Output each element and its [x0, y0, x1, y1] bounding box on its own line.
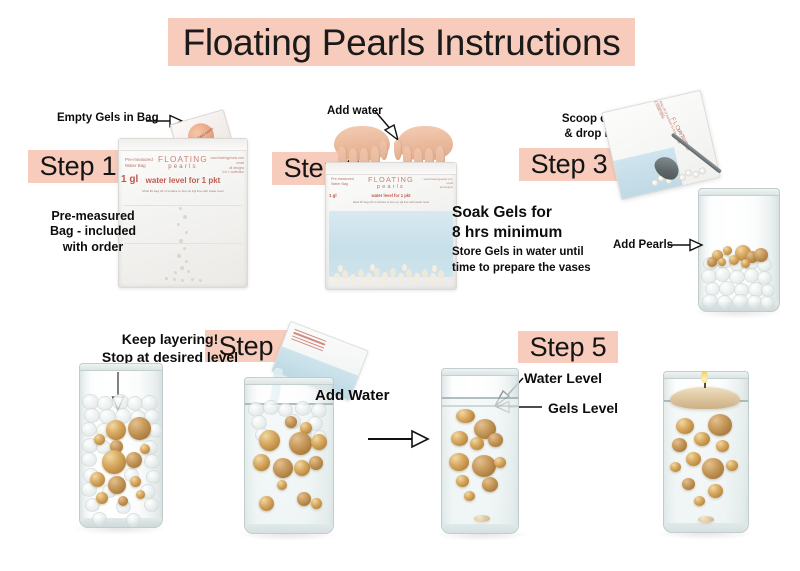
vase-step-5-finished	[441, 368, 519, 534]
gold-pearl	[694, 496, 705, 506]
page-title-banner: Floating Pearls Instructions	[168, 18, 635, 66]
callout-premeasured-line-3: with order	[33, 240, 153, 255]
clear-gel	[84, 408, 100, 423]
clear-gel	[715, 267, 730, 282]
vase-step-4-layered	[79, 363, 163, 528]
gold-pearl	[311, 434, 327, 450]
gold-pearl	[118, 496, 128, 506]
callout-store-gels-subtext: Store Gels in water until time to prepar…	[452, 245, 591, 276]
gold-pearl	[708, 484, 723, 498]
gel-bead	[406, 269, 412, 278]
gold-pearl	[707, 257, 717, 267]
gold-pearl	[670, 462, 681, 472]
clear-gel	[719, 281, 735, 296]
gold-pearl	[698, 516, 714, 523]
callout-water-level: Water Level	[524, 370, 602, 387]
callout-empty-gels-text: Empty Gels in Bag	[57, 112, 159, 124]
gold-pearl	[672, 438, 687, 452]
gold-pearl	[494, 457, 506, 468]
infographic-canvas: Floating Pearls Instructions Step 1 Empt…	[0, 0, 800, 571]
spoon-icon	[648, 122, 748, 192]
gold-pearl	[449, 453, 469, 471]
gold-pearl	[289, 432, 312, 455]
page-title: Floating Pearls Instructions	[183, 24, 621, 61]
callout-gels-level-text: Gels Level	[548, 400, 618, 416]
gold-pearl	[130, 476, 141, 487]
gold-pearl	[128, 417, 151, 440]
callout-add-pearls: Add Pearls	[613, 238, 673, 252]
gold-pearl	[90, 472, 105, 487]
arrow-add-pearls-icon	[668, 238, 704, 252]
gold-pearl	[694, 432, 710, 446]
clear-gel	[146, 470, 161, 484]
gels-line	[442, 405, 518, 407]
step-3-chip: Step 3	[519, 148, 619, 181]
keep-line-1: Keep layering!	[70, 330, 270, 348]
step-1-label: Step 1	[40, 151, 117, 182]
gel-bead	[430, 273, 436, 281]
clear-gel	[144, 454, 160, 469]
bag-label-contact: www.floatingpearls.com email all designs…	[211, 156, 244, 175]
gold-pearl	[716, 440, 729, 452]
gold-pearl	[723, 246, 732, 255]
gel-bead	[173, 278, 176, 281]
callout-keep-layering: Keep layering! Stop at desired level	[70, 330, 270, 366]
gold-pearl	[297, 492, 311, 506]
gold-pearl	[686, 452, 701, 466]
gold-pearl	[277, 480, 287, 490]
bag-zip-top	[326, 163, 456, 175]
water-line	[442, 397, 518, 399]
gold-pearl	[464, 491, 475, 501]
gold-pearl	[136, 490, 145, 499]
vase-rim	[79, 364, 163, 371]
floating-candle	[670, 387, 740, 409]
gel-bead	[370, 264, 375, 271]
gel-bead	[180, 266, 184, 270]
gold-pearl	[294, 460, 310, 476]
callout-soak-gels-heading: Soak Gels for 8 hrs minimum	[452, 203, 562, 244]
arrow-transition-icon	[368, 428, 430, 450]
gold-pearl	[106, 420, 126, 440]
bag-seam	[124, 205, 242, 206]
bag-label-contact: www.floatingpearls.com email all designs	[424, 177, 453, 190]
gold-pearl	[754, 248, 768, 262]
gel-bead	[438, 270, 444, 279]
gold-pearl	[682, 478, 695, 490]
flame-icon	[701, 371, 708, 383]
gold-pearl	[309, 456, 323, 470]
bag-printed-label: Pre-measured Water Bag FLOATING pearls w…	[119, 152, 247, 194]
gold-pearl	[474, 515, 490, 522]
gold-pearl	[259, 430, 280, 451]
gold-pearl	[729, 255, 739, 265]
gel-bead	[398, 273, 404, 281]
gold-pearl	[253, 454, 270, 471]
gel-bead	[199, 279, 202, 282]
callout-premeasured-line-2: Bag - included	[33, 224, 153, 239]
vase-rim	[441, 369, 519, 376]
gold-pearl	[456, 475, 469, 487]
gold-pearl	[488, 433, 503, 447]
bag-zip-top	[119, 139, 247, 151]
gel-bead	[338, 265, 343, 272]
callout-add-water-step-4: Add Water	[315, 387, 389, 405]
gel-bead	[382, 272, 388, 281]
gel-bead	[402, 264, 407, 271]
bag-label-fine-print: Must lift bag off of surface to line up …	[119, 189, 247, 193]
store-line-2: time to prepare the vases	[452, 261, 591, 277]
bag-printed-label: Pre-measured Water Bag FLOATING pearls w…	[326, 175, 456, 205]
gel-bead	[183, 215, 187, 219]
bag-label-fine-print: Must lift bag off of surface to line up …	[326, 200, 456, 204]
clear-gel	[760, 296, 775, 309]
gold-pearl	[726, 460, 738, 471]
gold-pearl	[741, 259, 750, 268]
gold-pearl	[470, 437, 484, 450]
step-5-chip: Step 5	[518, 331, 618, 363]
gel-bead	[174, 271, 177, 274]
gel-bead	[358, 269, 364, 278]
callout-gels-level: Gels Level	[548, 400, 618, 417]
gold-pearl	[482, 477, 498, 492]
gel-bead	[177, 254, 181, 258]
gel-bead	[181, 279, 184, 282]
step-5-label: Step 5	[530, 332, 607, 363]
clear-gel	[717, 295, 732, 309]
bag-label-water-level: water level for 1 pkt	[326, 193, 456, 198]
callout-pre-measured-bag: Pre-measured Bag - included with order	[33, 209, 153, 255]
gold-pearl	[108, 476, 126, 494]
callout-empty-gels-in-bag: Empty Gels in Bag	[57, 111, 159, 125]
gold-pearl	[259, 496, 274, 511]
gel-bead	[185, 231, 188, 234]
gel-bead	[432, 265, 437, 272]
gel-bead	[366, 273, 372, 281]
clear-gel	[92, 512, 107, 526]
step-1-chip: Step 1	[28, 150, 128, 183]
gold-pearl	[140, 444, 150, 454]
gel-bead	[334, 273, 340, 281]
clear-gel	[263, 400, 279, 415]
gel-bead	[191, 278, 194, 281]
vase-with-floating-candle	[663, 371, 749, 533]
gold-pearl	[451, 431, 468, 446]
callout-water-level-text: Water Level	[524, 370, 602, 386]
bag-label-lines	[290, 329, 327, 354]
gel-bead	[179, 239, 183, 243]
soak-line-1: Soak Gels for	[452, 203, 562, 223]
gold-pearl	[708, 414, 732, 436]
gold-pearl	[456, 409, 475, 423]
gel-bead	[422, 269, 428, 278]
gel-bead	[165, 277, 168, 280]
step-3-label: Step 3	[531, 149, 608, 180]
callout-add-pearls-text: Add Pearls	[613, 239, 673, 251]
clear-gel	[732, 294, 748, 308]
gel-bead	[185, 260, 188, 263]
clear-gel	[126, 513, 141, 527]
clear-gel	[144, 498, 159, 512]
vase-rim	[698, 189, 780, 196]
thumb	[394, 140, 402, 160]
bag-label-water-level: water level for 1 pkt	[119, 176, 247, 185]
gel-bead	[342, 270, 348, 279]
gold-pearl	[96, 492, 108, 504]
vase-rim	[244, 378, 334, 385]
gel-bead	[374, 268, 380, 277]
gold-pearl	[702, 458, 724, 479]
soak-line-2: 8 hrs minimum	[452, 223, 562, 243]
clear-gel	[81, 452, 97, 467]
gold-pearl	[472, 455, 496, 477]
gel-bead	[187, 270, 190, 273]
gold-pearl	[718, 258, 726, 266]
clear-gel	[295, 401, 311, 416]
vase-step-3	[698, 188, 780, 312]
bag-gel-beads-row	[332, 263, 450, 285]
gold-pearl	[102, 450, 126, 474]
gel-bead	[179, 207, 182, 210]
gel-bead	[177, 223, 180, 226]
gel-bead	[414, 273, 420, 281]
store-line-1: Store Gels in water until	[452, 245, 591, 261]
spoon-bowl	[651, 152, 684, 184]
gold-pearl	[311, 498, 322, 509]
clear-gel	[702, 294, 718, 308]
gold-pearl	[676, 418, 694, 434]
thumb	[380, 140, 388, 160]
gel-bead	[390, 268, 396, 277]
gold-pearl	[126, 452, 142, 468]
gold-pearl	[285, 416, 297, 428]
callout-premeasured-line-1: Pre-measured	[33, 209, 153, 224]
gold-pearl	[273, 458, 293, 478]
gel-bead	[183, 247, 186, 250]
water-bag-filled: Pre-measured Water Bag FLOATING pearls w…	[325, 162, 457, 290]
gel-bead	[350, 274, 356, 282]
callout-add-water-4-text: Add Water	[315, 387, 389, 404]
gold-pearl	[94, 434, 105, 445]
